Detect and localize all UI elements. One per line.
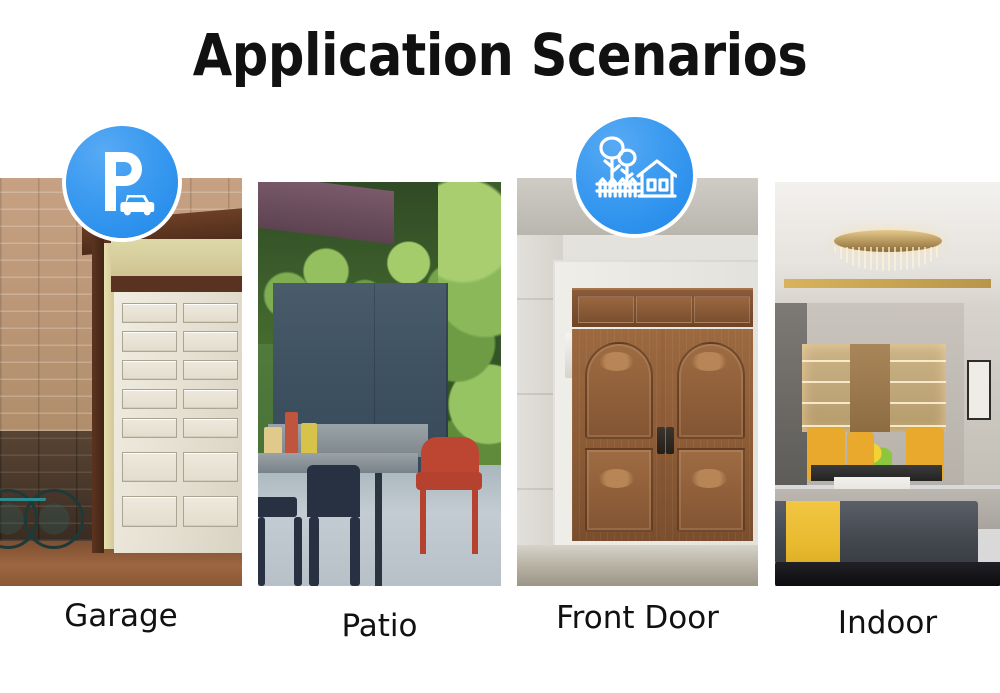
scenario-card-front-door[interactable]: Front Door [517,0,758,693]
scenario-label-patio: Patio [258,608,501,644]
scenario-card-indoor[interactable]: Indoor [775,0,1000,693]
scenario-card-garage[interactable]: Garage [0,0,242,693]
scenario-label-front-door: Front Door [517,600,758,636]
scenario-photo-front-door [517,178,758,586]
scenario-card-patio[interactable]: Patio [258,0,501,693]
scenario-gallery: Garage [0,0,1000,693]
scenario-label-indoor: Indoor [775,605,1000,641]
scenario-label-garage: Garage [0,598,242,634]
garden-fence-house-icon [576,117,693,234]
parking-car-icon [66,126,178,238]
scenario-photo-indoor [775,182,1000,586]
scenario-photo-garage [0,178,242,586]
scenario-photo-patio [258,182,501,586]
